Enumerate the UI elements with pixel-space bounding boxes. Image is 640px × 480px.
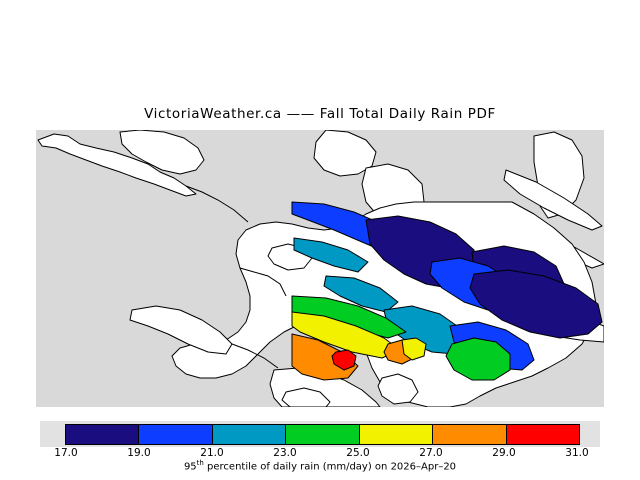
colorbar-segment-6[interactable] (432, 425, 505, 444)
colorbar-tick-4: 25.0 (346, 447, 369, 459)
colorbar-caption: 95th percentile of daily rain (mm/day) o… (0, 459, 640, 472)
colorbar-tick-0: 17.0 (54, 447, 77, 459)
colorbar-segment-2[interactable] (138, 425, 211, 444)
colorbar-segment-1[interactable] (66, 425, 138, 444)
caption-prefix: 95 (184, 461, 197, 472)
colorbar-tick-6: 29.0 (492, 447, 515, 459)
coast-detail-nw (186, 186, 248, 222)
caption-superscript: th (197, 459, 204, 467)
weather-map-page: VictoriaWeather.ca —— Fall Total Daily R… (0, 0, 640, 480)
caption-rest: percentile of daily rain (mm/day) on 202… (204, 461, 456, 472)
colorbar-segment-5[interactable] (359, 425, 432, 444)
colorbar-segment-7[interactable] (506, 425, 579, 444)
colorbar[interactable] (65, 424, 580, 445)
colorbar-segment-3[interactable] (212, 425, 285, 444)
colorbar-tick-7: 31.0 (565, 447, 588, 459)
map-graphic (36, 130, 604, 407)
colorbar-tick-2: 21.0 (200, 447, 223, 459)
colorbar-container[interactable] (40, 421, 600, 447)
map-panel[interactable] (36, 130, 604, 407)
colorbar-tick-5: 27.0 (419, 447, 442, 459)
colorbar-tick-1: 19.0 (127, 447, 150, 459)
land-sw-inlet-spur (130, 306, 232, 354)
colorbar-tick-3: 23.0 (273, 447, 296, 459)
page-title: VictoriaWeather.ca —— Fall Total Daily R… (0, 106, 640, 122)
colorbar-segment-4[interactable] (285, 425, 358, 444)
